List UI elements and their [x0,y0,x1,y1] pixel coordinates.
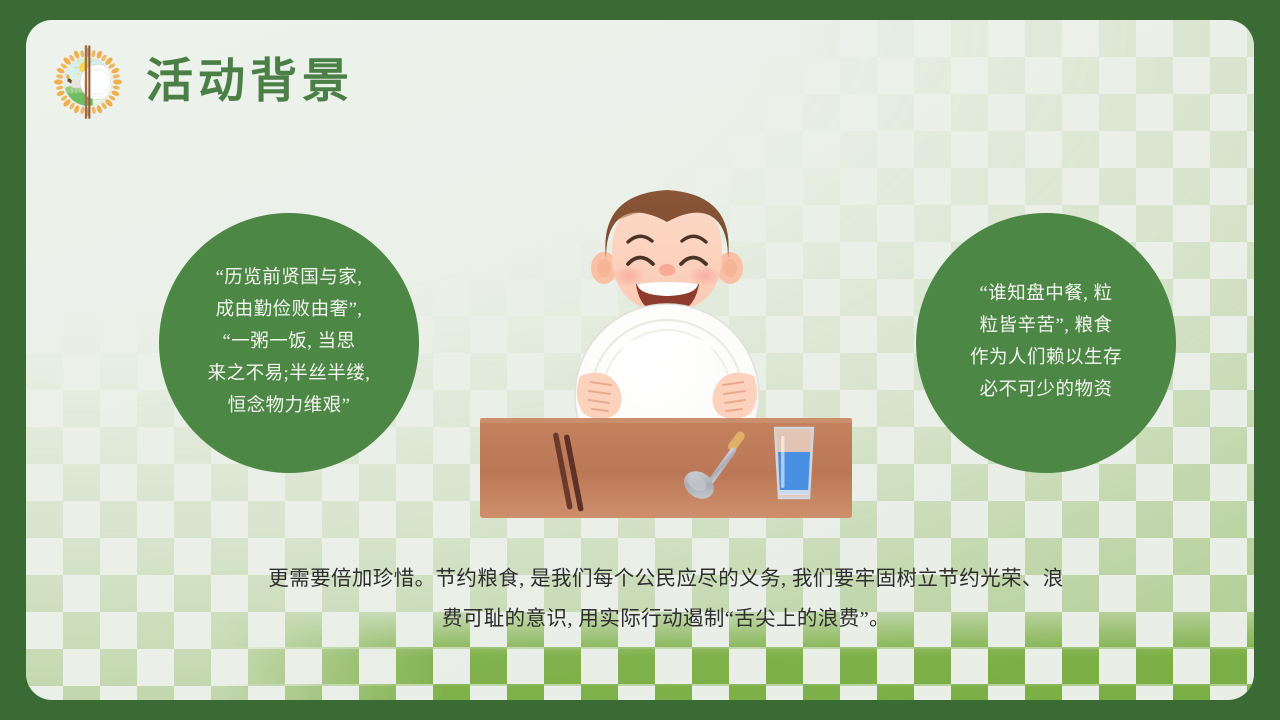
boy-holding-empty-plate-illustration [456,180,876,525]
quote-line: 来之不易;半丝半缕, [208,359,371,391]
boy-head [591,190,743,314]
nose [659,264,675,276]
quote-circle-right: “谁知盘中餐, 粒 粒皆辛苦”, 粮食 作为人们赖以生存 必不可少的物资 [916,213,1176,473]
body-paragraph: 更需要倍加珍惜。节约粮食, 是我们每个公民应尽的义务, 我们要牢固树立节约光荣、… [241,560,1091,640]
content-card: 活动背景 “历览前贤国与家, 成由勤俭败由奢”, “一粥一饭, 当思 来之不易;… [26,20,1254,700]
page-title: 活动背景 [146,59,354,106]
quote-circle-left: “历览前贤国与家, 成由勤俭败由奢”, “一粥一饭, 当思 来之不易;半丝半缕,… [159,213,419,473]
quote-line: “一粥一饭, 当思 [208,327,371,359]
quote-line: “谁知盘中餐, 粒 [970,279,1122,311]
paragraph-line-2: 费可耻的意识, 用实际行动遏制“舌尖上的浪费”。 [241,600,1091,640]
quote-line: 粒皆辛苦”, 粮食 [970,311,1122,343]
quote-line: “历览前贤国与家, [208,263,371,295]
quote-line: 必不可少的物资 [970,375,1122,407]
water-glass [775,428,813,498]
slide-header: 活动背景 [48,42,354,122]
paragraph-line-1: 更需要倍加珍惜。节约粮食, 是我们每个公民应尽的义务, 我们要牢固树立节约光荣、… [241,560,1091,600]
quote-line: 成由勤俭败由奢”, [208,295,371,327]
quote-line: 恒念物力维艰” [208,391,371,423]
quote-text-right: “谁知盘中餐, 粒 粒皆辛苦”, 粮食 作为人们赖以生存 必不可少的物资 [970,279,1122,406]
grain-bowl-emblem-icon [48,42,128,122]
slide-root: 活动背景 “历览前贤国与家, 成由勤俭败由奢”, “一粥一饭, 当思 来之不易;… [0,0,1280,720]
quote-text-left: “历览前贤国与家, 成由勤俭败由奢”, “一粥一饭, 当思 来之不易;半丝半缕,… [208,263,371,422]
quote-line: 作为人们赖以生存 [970,343,1122,375]
